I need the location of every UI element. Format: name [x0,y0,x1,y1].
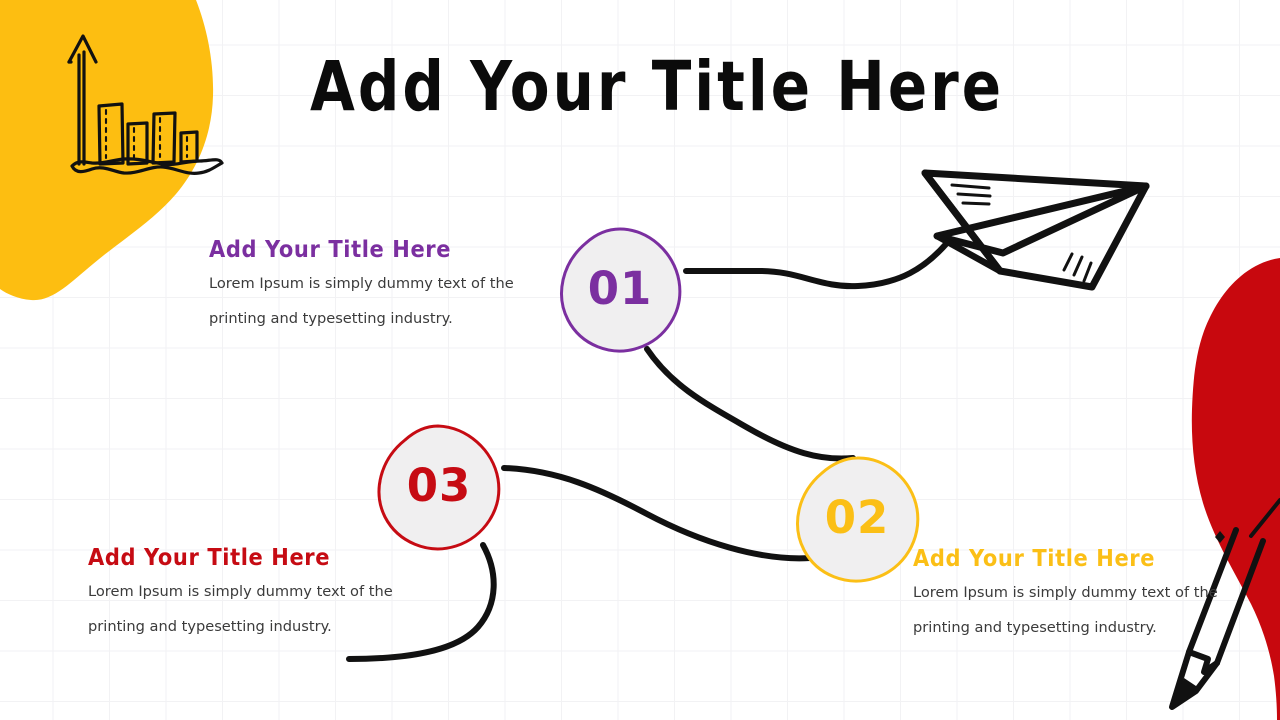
slide-canvas: Add Your Title Here 01 02 03 Add Your Ti… [0,0,1280,720]
step-text-block-03: Add Your Title Here Lorem Ipsum is simpl… [88,544,408,644]
step-01-title: Add Your Title Here [209,236,529,262]
step-02-body: Lorem Ipsum is simply dummy text of the … [913,575,1233,645]
connector-01-to-plane [686,243,947,286]
step-circle-03-number: 03 [375,423,503,551]
step-01-body: Lorem Ipsum is simply dummy text of the … [209,266,529,336]
step-circle-02-number: 02 [793,455,921,583]
page-title: Add Your Title Here [310,52,990,120]
connector-01-to-02 [647,349,853,459]
connector-03-to-02 [504,468,810,558]
step-03-body: Lorem Ipsum is simply dummy text of the … [88,574,408,644]
step-circle-03[interactable]: 03 [375,423,503,551]
step-circle-01[interactable]: 01 [556,226,684,354]
step-02-title: Add Your Title Here [913,545,1233,571]
step-circle-02[interactable]: 02 [793,455,921,583]
step-text-block-01: Add Your Title Here Lorem Ipsum is simpl… [209,236,529,336]
step-text-block-02: Add Your Title Here Lorem Ipsum is simpl… [913,545,1233,645]
step-03-title: Add Your Title Here [88,544,408,570]
step-circle-01-number: 01 [556,226,684,354]
